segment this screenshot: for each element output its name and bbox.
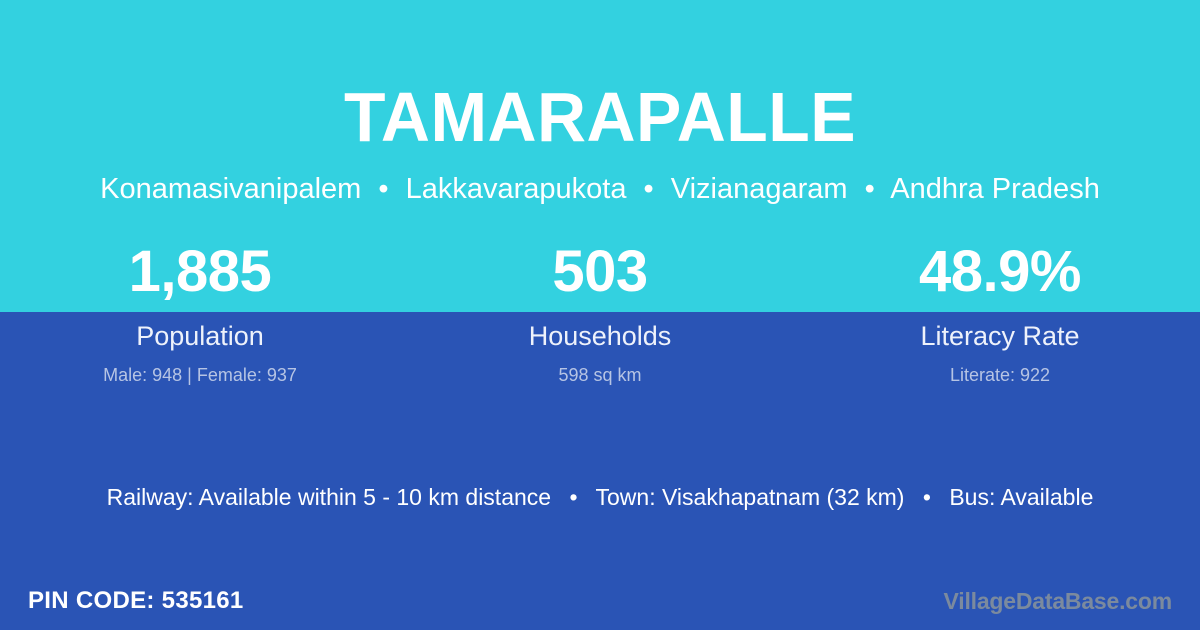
breadcrumb-item-state: Andhra Pradesh (890, 173, 1100, 205)
bullet-separator-icon: • (911, 486, 943, 509)
site-watermark: VillageDataBase.com (944, 590, 1172, 613)
stats-row: 1,885 Population Male: 948 | Female: 937… (0, 243, 1200, 384)
stat-label: Population (0, 301, 400, 350)
breadcrumb-item-mandal: Lakkavarapukota (406, 173, 627, 205)
bullet-separator-icon: • (557, 486, 589, 509)
card-footer: PIN CODE: 535161 VillageDataBase.com (0, 572, 1200, 630)
stat-value: 1,885 (0, 243, 400, 301)
breadcrumb: Konamasivanipalem • Lakkavarapukota • Vi… (0, 152, 1200, 204)
pin-code: PIN CODE: 535161 (28, 589, 244, 613)
bullet-separator-icon: • (369, 175, 397, 204)
amenities-row: Railway: Available within 5 - 10 km dist… (0, 486, 1200, 509)
stat-literacy-rate: 48.9% Literacy Rate Literate: 922 (800, 243, 1200, 384)
village-info-card: TAMARAPALLE Konamasivanipalem • Lakkavar… (0, 0, 1200, 630)
stat-value: 503 (400, 243, 800, 301)
amenity-railway: Railway: Available within 5 - 10 km dist… (107, 484, 551, 510)
breadcrumb-item-district: Vizianagaram (671, 173, 848, 205)
breadcrumb-item-mandal-hq: Konamasivanipalem (100, 173, 361, 205)
stat-sublabel: 598 sq km (400, 350, 800, 384)
bullet-separator-icon: • (856, 175, 884, 204)
stat-label: Households (400, 301, 800, 350)
page-title: TAMARAPALLE (18, 0, 1182, 152)
amenity-bus: Bus: Available (949, 484, 1093, 510)
stat-sublabel: Male: 948 | Female: 937 (0, 350, 400, 384)
card-header: TAMARAPALLE Konamasivanipalem • Lakkavar… (0, 0, 1200, 204)
amenity-town: Town: Visakhapatnam (32 km) (596, 484, 905, 510)
stat-sublabel: Literate: 922 (800, 350, 1200, 384)
stat-value: 48.9% (800, 243, 1200, 301)
bullet-separator-icon: • (635, 175, 663, 204)
stat-label: Literacy Rate (800, 301, 1200, 350)
stat-households: 503 Households 598 sq km (400, 243, 800, 384)
stat-population: 1,885 Population Male: 948 | Female: 937 (0, 243, 400, 384)
